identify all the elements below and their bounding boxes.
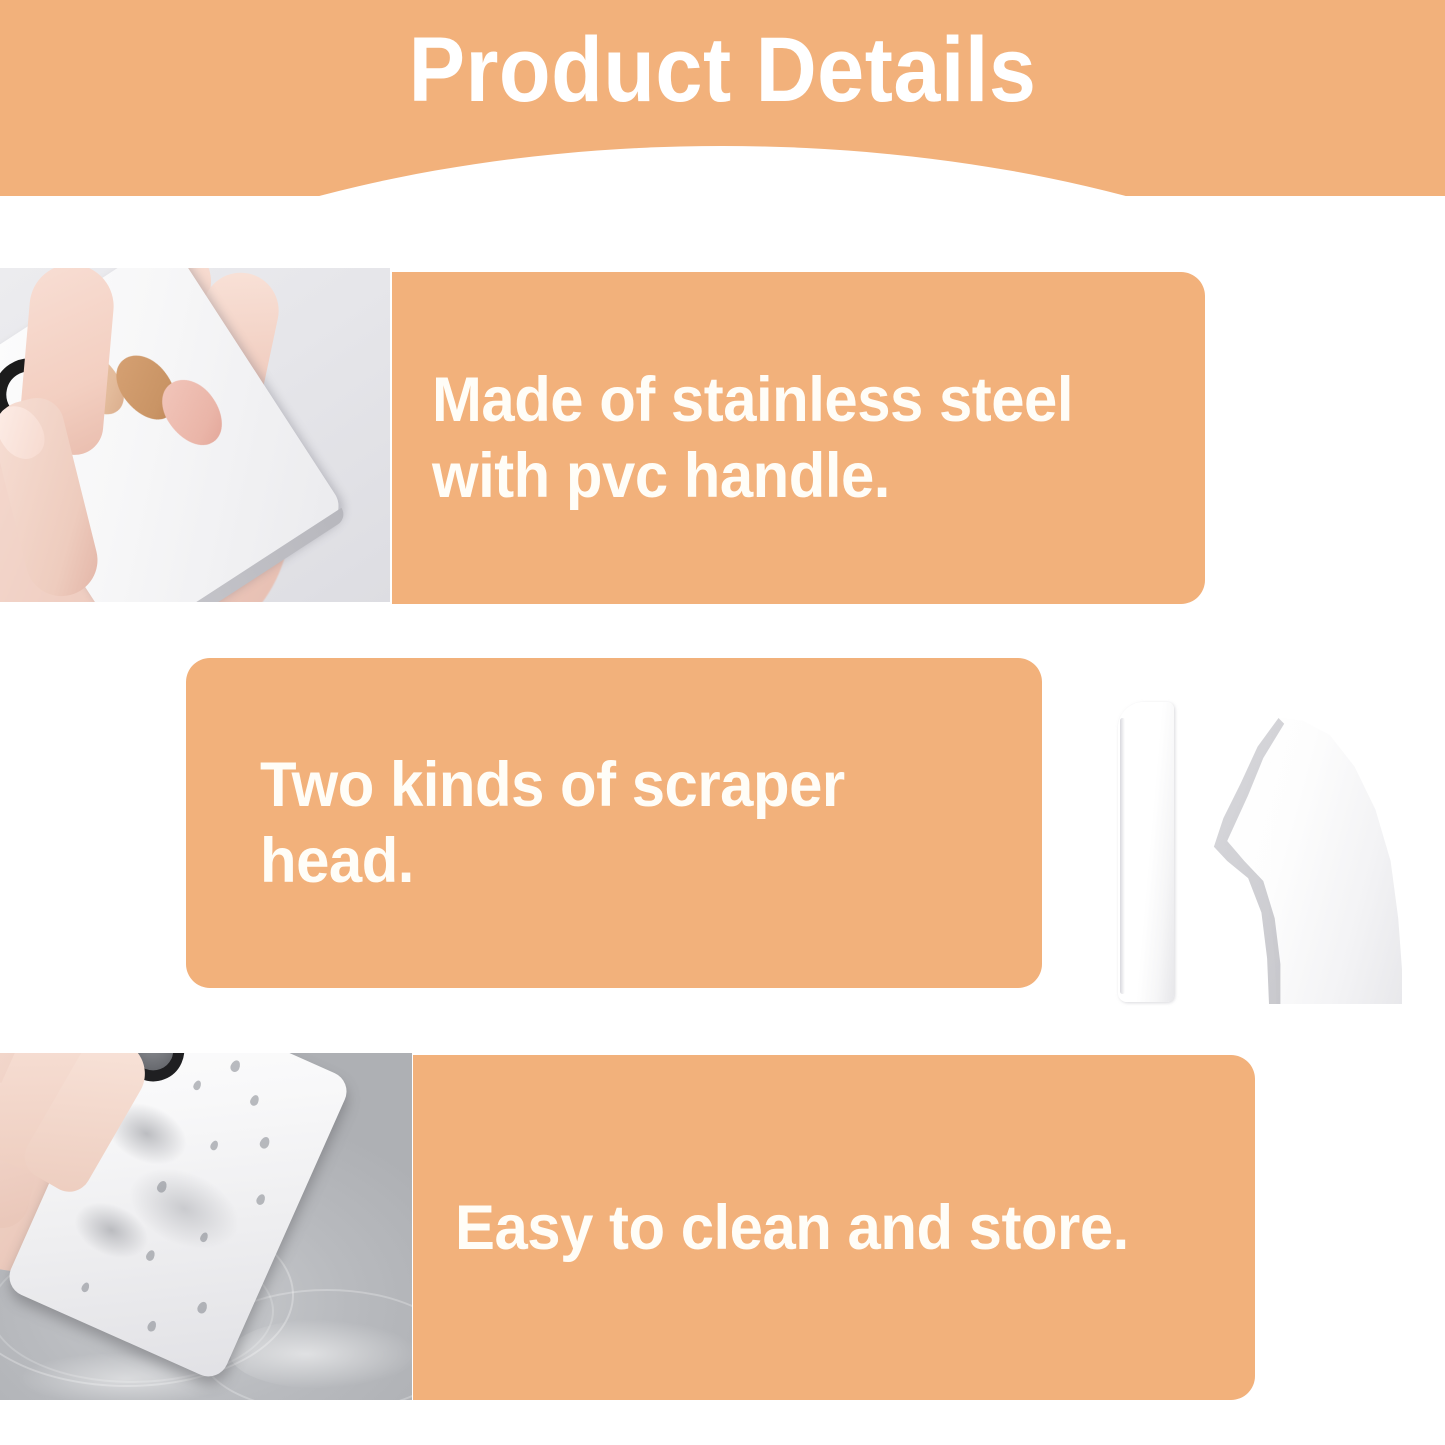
feature-panel-material: Made of stainless steel with pvc handle. bbox=[392, 272, 1205, 604]
scraper-heads-illustration bbox=[1100, 690, 1430, 1010]
feature-panel-cleaning: Easy to clean and store. bbox=[413, 1055, 1255, 1400]
feature-text-material: Made of stainless steel with pvc handle. bbox=[432, 362, 1073, 514]
feature-panel-scraper-heads: Two kinds of scraper head. bbox=[186, 658, 1042, 988]
feature-text-material-line1: Made of stainless steel bbox=[432, 365, 1073, 435]
water-droplet bbox=[229, 1059, 242, 1074]
water-droplet bbox=[146, 1320, 158, 1333]
palette-edge bbox=[127, 508, 348, 602]
feature-text-cleaning-line1: Easy to clean and store. bbox=[455, 1193, 1129, 1263]
feature-text-material-line2: with pvc handle. bbox=[432, 441, 890, 511]
water-droplet bbox=[249, 1094, 261, 1107]
feature-text-scraper-heads-line1: Two kinds of scraper bbox=[260, 750, 845, 820]
water-highlight bbox=[230, 1319, 412, 1389]
water-droplet bbox=[192, 1079, 202, 1091]
page-title: Product Details bbox=[58, 22, 1387, 118]
water-droplet bbox=[80, 1281, 90, 1293]
feature-text-scraper-heads-line2: head. bbox=[260, 826, 414, 896]
flat-scraper-blade bbox=[1118, 702, 1174, 1002]
feature-text-cleaning: Easy to clean and store. bbox=[455, 1190, 1129, 1266]
hand-rinsing-palette-photo bbox=[0, 1053, 412, 1400]
feature-text-scraper-heads: Two kinds of scraper head. bbox=[260, 747, 845, 899]
header-curve-decoration bbox=[0, 146, 1445, 196]
fingernail-shape bbox=[0, 397, 53, 467]
hand-holding-palette-photo bbox=[0, 268, 390, 602]
